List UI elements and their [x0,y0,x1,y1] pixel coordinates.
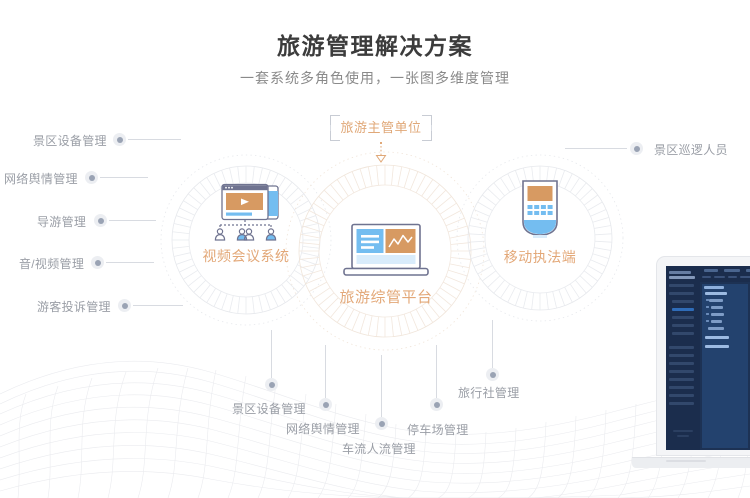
connector-dot-left-3[interactable] [94,214,107,227]
connector-line-bottom-2 [325,345,326,398]
connector-label-left-5[interactable]: 游客投诉管理 [37,298,111,315]
connector-label-bottom-1[interactable]: 景区设备管理 [232,400,306,417]
connector-dot-left-2[interactable] [85,171,98,184]
connector-label-left-1[interactable]: 景区设备管理 [33,132,107,149]
background-wave-mesh [0,298,750,498]
badge-down-arrow-icon [373,142,389,164]
connector-label-bottom-2[interactable]: 网络舆情管理 [286,420,360,437]
connector-line-left-1 [128,139,181,140]
connector-dot-left-1[interactable] [113,133,126,146]
connector-line-bottom-4 [436,345,437,398]
connector-line-left-3 [109,220,156,221]
node-label-video-conference: 视频会议系统 [186,246,306,266]
connector-label-left-2[interactable]: 网络舆情管理 [4,170,78,187]
connector-dot-bottom-2[interactable] [319,398,332,411]
dashboard-screenshot [666,266,750,450]
solution-diagram-page: 旅游管理解决方案 一套系统多角色使用，一张图多维度管理 旅游主管单位 [0,0,750,498]
connector-line-left-2 [100,177,148,178]
connector-label-left-4[interactable]: 音/视频管理 [19,255,84,272]
connector-line-left-4 [106,262,154,263]
node-label-mobile-enforcement: 移动执法端 [480,247,600,267]
page-subtitle: 一套系统多角色使用，一张图多维度管理 [0,68,750,88]
video-conference-icon [207,183,287,243]
page-title: 旅游管理解决方案 [0,27,750,61]
dashboard-tree-panel [702,284,748,448]
connector-line-right-1 [565,148,627,149]
node-label-tourism-platform: 旅游综管平台 [326,286,446,307]
dashboard-topbar [700,266,750,282]
connector-label-bottom-3[interactable]: 车流人流管理 [342,440,416,457]
connector-line-bottom-1 [271,330,272,378]
connector-line-bottom-5 [492,320,493,368]
handheld-device-icon [513,178,567,244]
connector-line-left-5 [133,305,183,306]
connector-label-bottom-4[interactable]: 停车场管理 [407,421,469,438]
connector-line-bottom-3 [381,355,382,417]
connector-dot-bottom-1[interactable] [265,378,278,391]
laptop-lid [656,256,750,456]
authority-badge[interactable]: 旅游主管单位 [330,115,432,141]
dashboard-sidebar [666,266,700,450]
connector-label-right-1[interactable]: 景区巡逻人员 [654,141,728,158]
connector-label-left-3[interactable]: 导游管理 [37,213,86,230]
connector-dot-bottom-3[interactable] [375,417,388,430]
laptop-dashboard-icon [340,223,432,285]
connector-dot-left-4[interactable] [91,256,104,269]
authority-badge-label: 旅游主管单位 [330,115,432,141]
connector-dot-bottom-4[interactable] [430,398,443,411]
connector-label-bottom-5[interactable]: 旅行社管理 [458,384,520,401]
connector-dot-bottom-5[interactable] [486,368,499,381]
laptop-base [632,457,750,468]
connector-dot-right-1[interactable] [630,142,643,155]
connector-dot-left-5[interactable] [118,299,131,312]
